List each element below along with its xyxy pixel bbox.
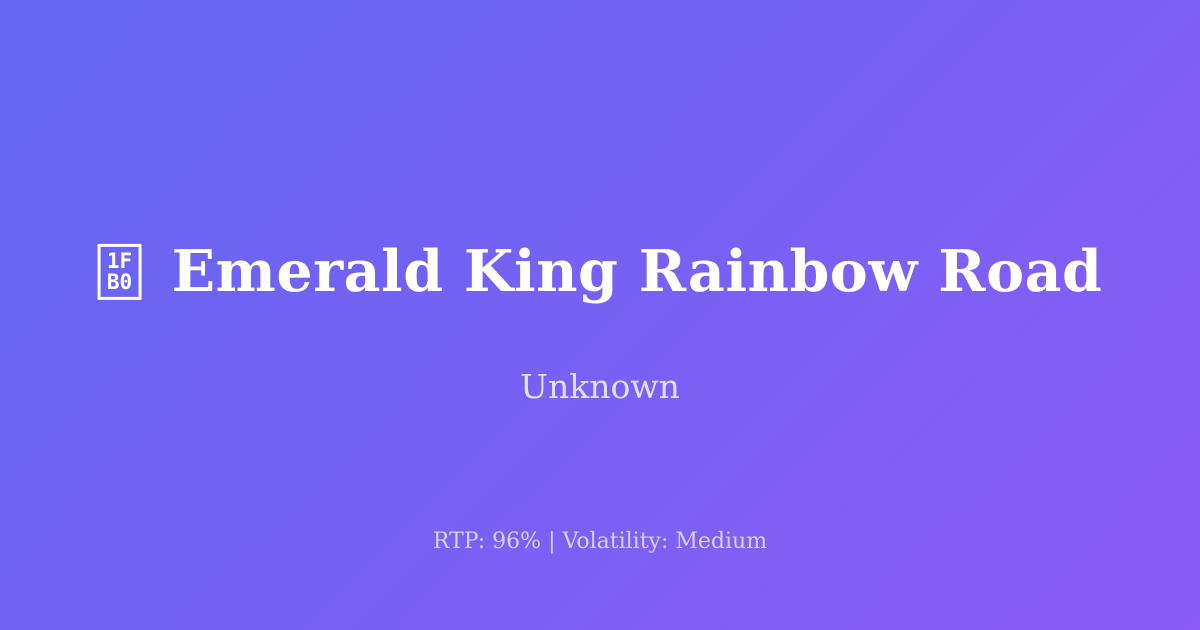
tofu-hex-row-top: 1F — [107, 251, 132, 272]
card-subtitle: Unknown — [0, 367, 1200, 407]
og-share-card: 1F B0 Emerald King Rainbow Road Unknown … — [0, 0, 1200, 630]
tofu-hex-row-bottom: B0 — [107, 272, 132, 293]
card-meta-line: RTP: 96% | Volatility: Medium — [0, 529, 1200, 555]
slot-machine-icon: 1F B0 — [98, 244, 142, 300]
title-row: 1F B0 Emerald King Rainbow Road — [98, 204, 1103, 340]
page-title: Emerald King Rainbow Road — [172, 242, 1103, 302]
